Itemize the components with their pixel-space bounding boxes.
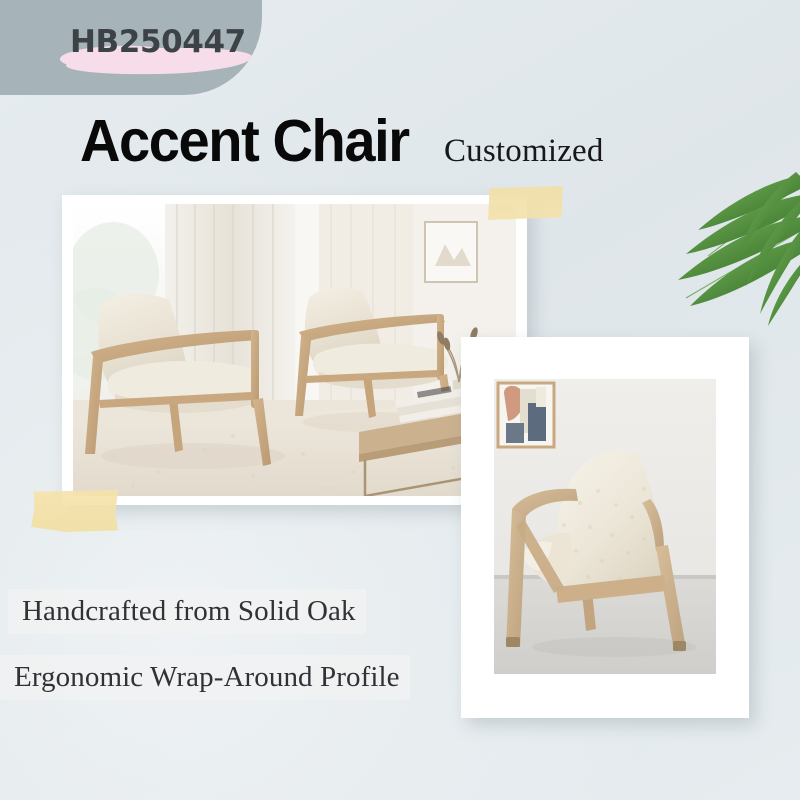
detail-product-image-frame (461, 337, 749, 718)
product-sku: HB250447 (70, 24, 246, 60)
washi-tape-top-right (488, 186, 563, 220)
product-poster: HB250447 Accent Chair Customized (0, 0, 800, 800)
washi-tape-bottom-left (31, 490, 118, 532)
title-row: Accent Chair Customized (80, 112, 604, 171)
main-product-image (73, 204, 516, 496)
detail-product-image (494, 379, 716, 674)
palm-leaf-icon (646, 168, 800, 328)
page-subtitle: Customized (444, 135, 604, 168)
feature-line-0: Handcrafted from Solid Oak (8, 589, 366, 634)
feature-line-1: Ergonomic Wrap-Around Profile (0, 655, 410, 700)
page-title: Accent Chair (80, 112, 409, 171)
main-product-image-frame (62, 195, 527, 505)
